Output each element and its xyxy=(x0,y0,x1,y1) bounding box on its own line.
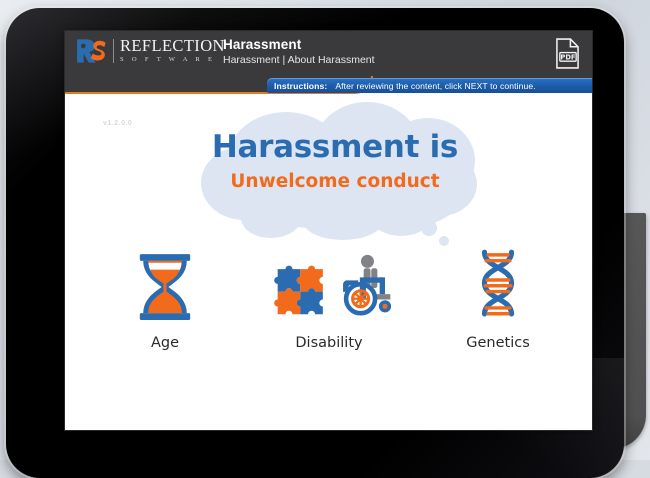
category-label-age: Age xyxy=(95,335,235,351)
logo-divider xyxy=(113,39,114,63)
puzzle-pieces-icon xyxy=(273,252,328,322)
brand-logo[interactable]: REFLECTION S O F T W A R E xyxy=(74,37,225,65)
page-title: Harassment xyxy=(223,37,375,52)
dna-helix-icon xyxy=(428,244,568,322)
header-subbar: v1.2.0.0 Instructions: After reviewing t… xyxy=(65,78,592,94)
svg-text:PDF: PDF xyxy=(560,53,576,61)
brand-name: REFLECTION xyxy=(120,38,225,55)
category-age[interactable]: Age xyxy=(95,244,235,351)
wheelchair-icon xyxy=(340,248,399,322)
breadcrumb: Harassment | About Harassment xyxy=(223,54,375,66)
app-header: REFLECTION S O F T W A R E Harassment Ha… xyxy=(65,31,592,78)
tablet-screen: REFLECTION S O F T W A R E Harassment Ha… xyxy=(65,31,592,430)
slide-content: Harassment is Unwelcome conduct xyxy=(65,94,592,430)
category-disability[interactable]: Disability xyxy=(259,244,399,351)
bubble-subline: Unwelcome conduct xyxy=(185,171,485,192)
bubble-headline: Harassment is xyxy=(185,129,485,165)
category-label-genetics: Genetics xyxy=(428,335,568,351)
version-label: v1.2.0.0 xyxy=(103,120,132,127)
header-titles: Harassment Harassment | About Harassment xyxy=(223,37,375,66)
instructions-text: After reviewing the content, click NEXT … xyxy=(335,81,535,91)
category-label-disability: Disability xyxy=(259,335,399,351)
brand-subtitle: S O F T W A R E xyxy=(120,57,225,64)
category-icons-row: Age xyxy=(65,244,592,364)
thought-bubble: Harassment is Unwelcome conduct xyxy=(185,102,485,237)
hourglass-icon xyxy=(95,244,235,322)
instructions-bar: Instructions: After reviewing the conten… xyxy=(267,78,592,93)
category-genetics[interactable]: Genetics xyxy=(428,244,568,351)
disability-icon-group xyxy=(259,244,399,322)
instructions-label: Instructions: xyxy=(274,81,327,91)
rs-monogram-icon xyxy=(74,37,108,65)
pdf-icon[interactable]: PDF xyxy=(555,38,580,69)
